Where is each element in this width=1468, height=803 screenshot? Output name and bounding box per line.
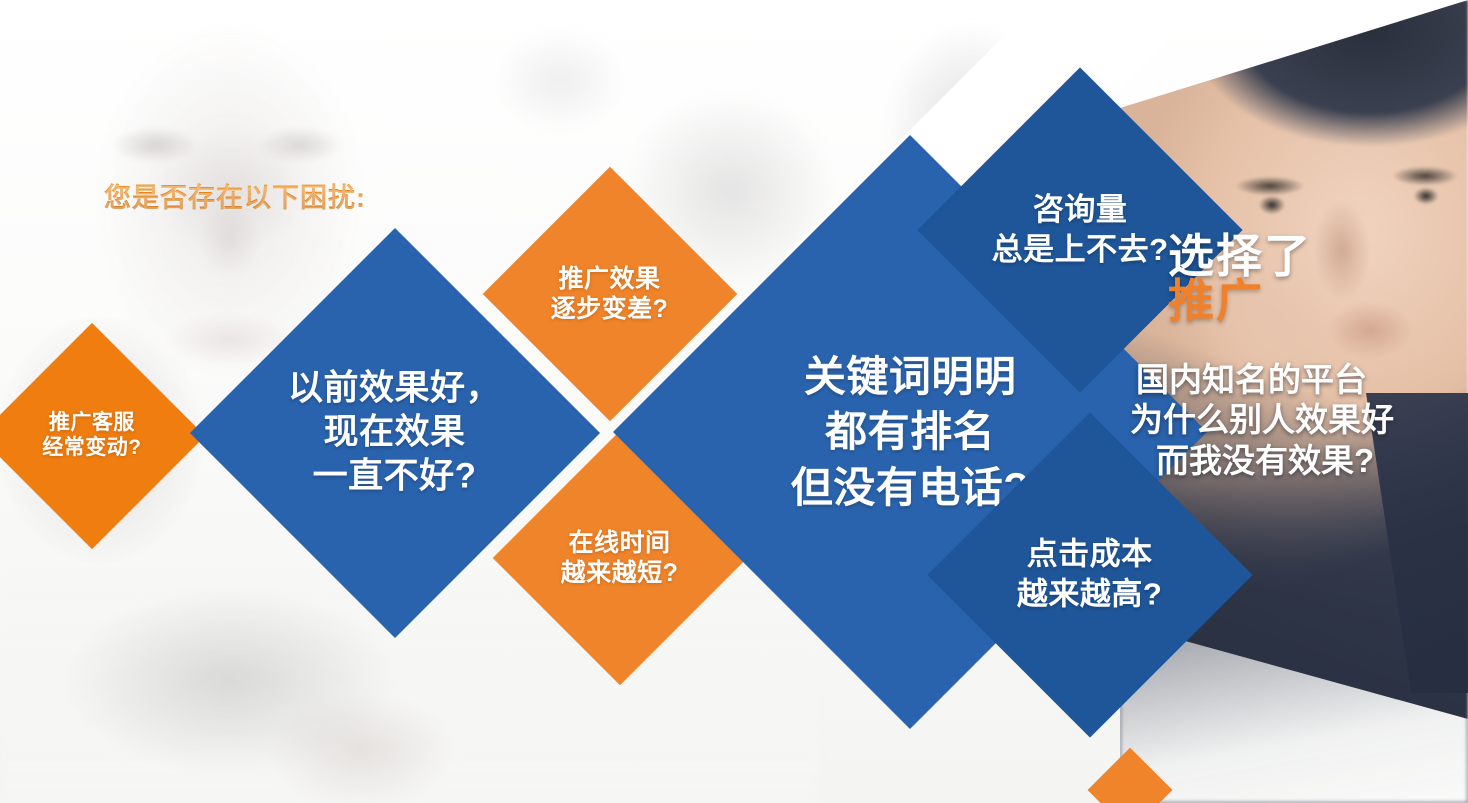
right-promo-label: 推广	[1168, 277, 1468, 326]
right-body-line: 国内知名的平台	[1136, 360, 1468, 400]
diamond-line: 越来越短?	[561, 558, 679, 588]
right-body-line: 为什么别人效果好	[1130, 400, 1468, 440]
diamond-line: 总是上不去?	[992, 230, 1169, 270]
right-panel-heading: 选择了 推广	[1168, 232, 1468, 326]
diamond-line: 经常变动?	[42, 436, 141, 461]
diamond-promo-service[interactable]: 推广客服 经常变动?	[0, 323, 205, 549]
diamond-line: 关键词明明	[791, 349, 1030, 404]
diamond-line: 越来越高?	[1017, 575, 1162, 615]
diamond-line: 推广客服	[42, 411, 141, 436]
diamond-line: 推广效果	[551, 265, 669, 295]
diamond-line: 一直不好?	[288, 455, 501, 499]
diamond-line: 咨询量	[992, 190, 1169, 230]
diamond-line: 但没有电话?	[791, 460, 1030, 515]
diamond-line: 以前效果好，	[288, 367, 501, 411]
right-body-line: 而我没有效果?	[1156, 441, 1468, 481]
diamond-line: 都有排名	[791, 404, 1030, 459]
diamond-line: 在线时间	[561, 529, 679, 559]
right-choose-label: 选择了	[1168, 232, 1468, 281]
promo-banner: 您是否存在以下困扰: 推广客服 经常变动? 以前效果好， 现在效果 一直不好? …	[0, 0, 1468, 803]
diamond-line: 点击成本	[1017, 535, 1162, 575]
diamond-line: 现在效果	[288, 411, 501, 455]
right-panel-body: 国内知名的平台 为什么别人效果好 而我没有效果?	[1136, 360, 1468, 481]
page-headline: 您是否存在以下困扰:	[104, 176, 366, 215]
diamond-line: 逐步变差?	[551, 294, 669, 324]
